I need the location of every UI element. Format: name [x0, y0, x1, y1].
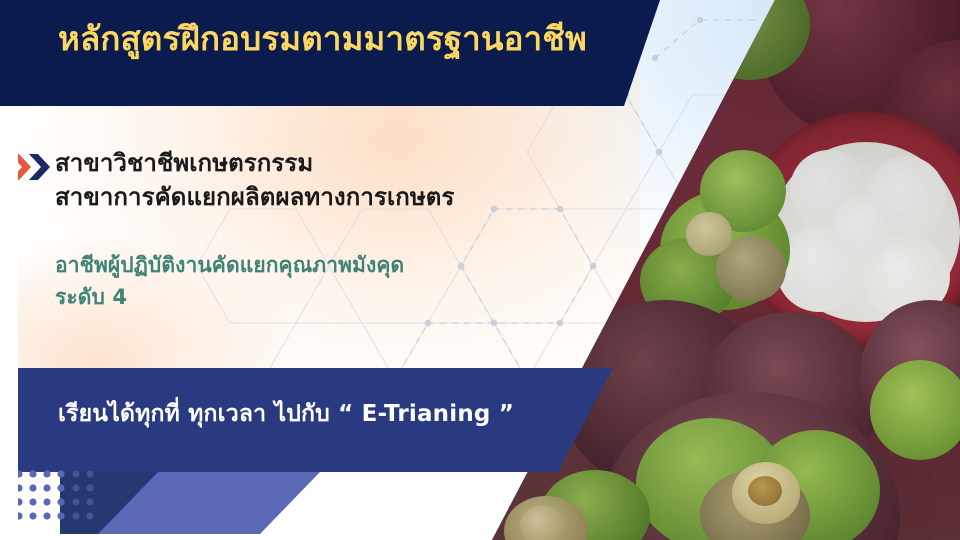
dot-grid-decoration — [0, 468, 124, 524]
poster-canvas: หลักสูตรฝึกอบรมตามมาตรฐานอาชีพ สาขาวิชาช… — [0, 0, 960, 540]
heading-line-1: สาขาวิชาชีพเกษตรกรรม — [55, 146, 575, 180]
heading-line-2: สาขาการคัดแยกผลิตผลทางการเกษตร — [55, 180, 575, 214]
left-white-strip — [0, 106, 18, 540]
banner-text: เรียนได้ทุกที่ ทุกเวลา ไปกับ “ E-Trianin… — [58, 396, 598, 432]
heading-block: สาขาวิชาชีพเกษตรกรรม สาขาการคัดแยกผลิตผล… — [55, 146, 575, 214]
subheading-line-2: ระดับ 4 — [55, 282, 575, 314]
page-title: หลักสูตรฝึกอบรมตามมาตรฐานอาชีพ — [58, 18, 658, 59]
subheading-line-1: อาชีพผู้ปฏิบัติงานคัดแยกคุณภาพมังคุด — [55, 250, 575, 282]
subheading-block: อาชีพผู้ปฏิบัติงานคัดแยกคุณภาพมังคุด ระด… — [55, 250, 575, 313]
chevron-right-icon — [29, 154, 50, 180]
